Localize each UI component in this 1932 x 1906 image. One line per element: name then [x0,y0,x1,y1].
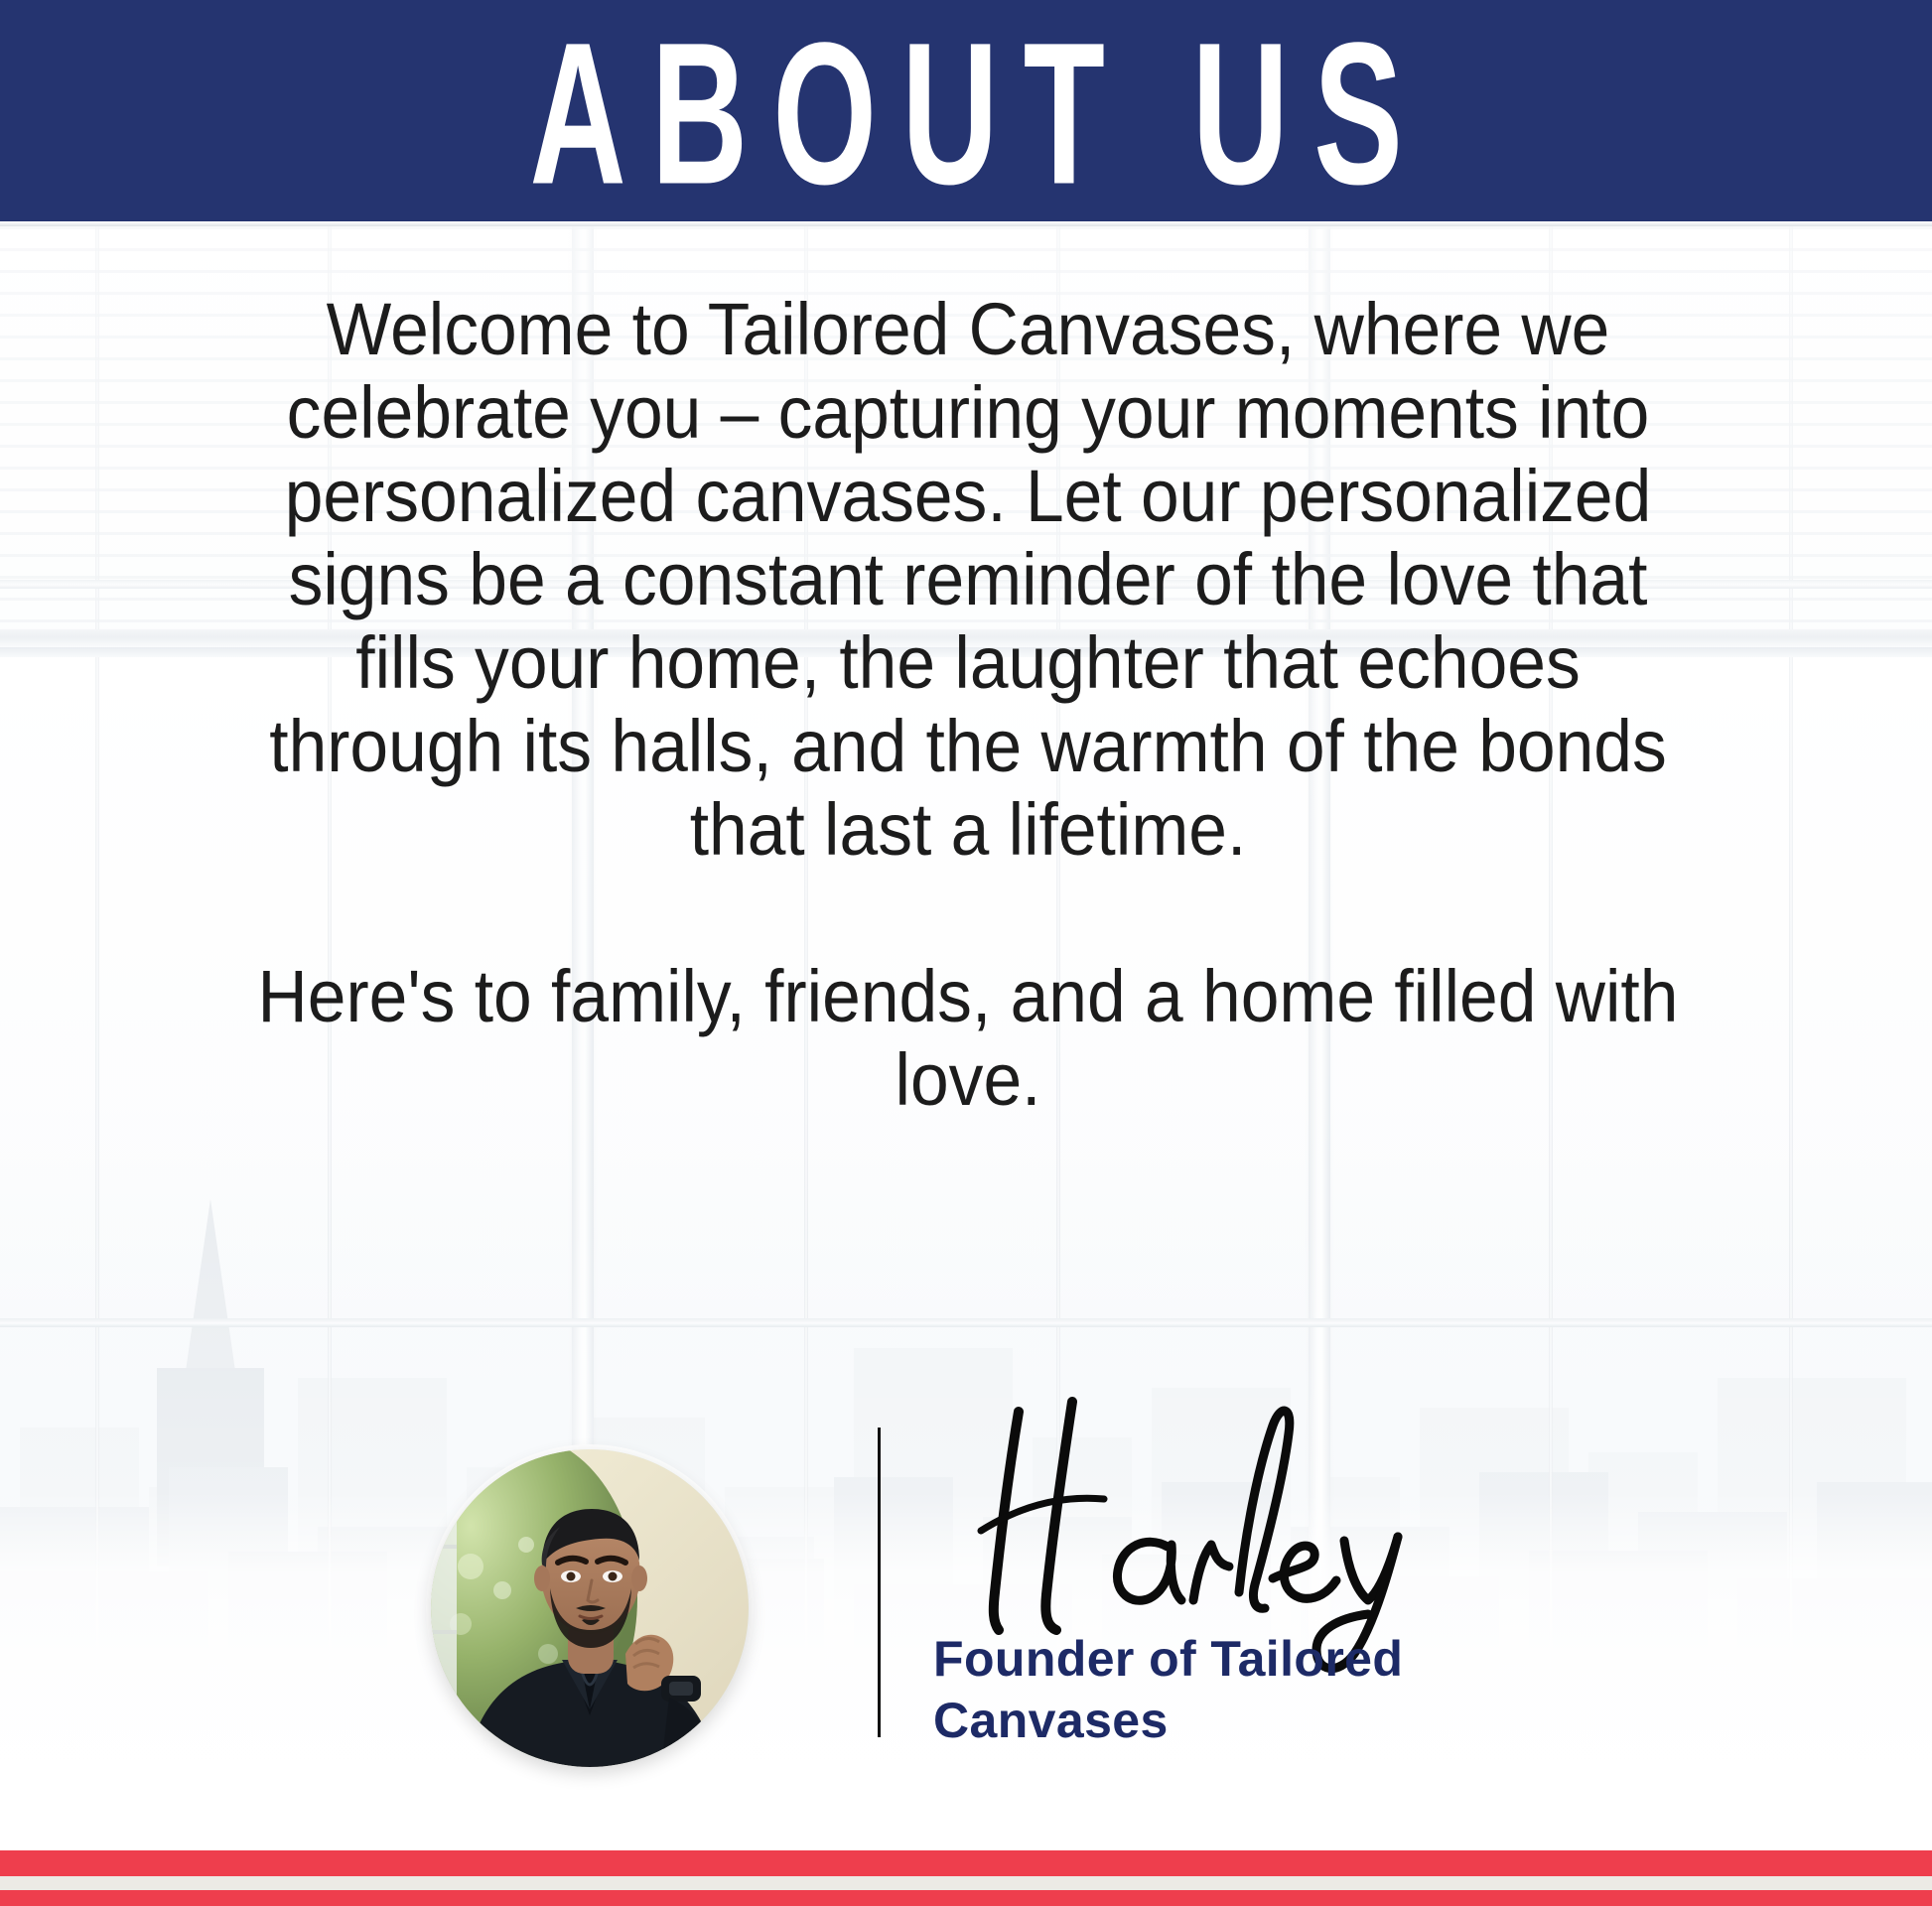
window-transom-lower [0,1318,1932,1327]
about-paragraph-1-text: Welcome to Tailored Canvases, where we c… [235,288,1701,872]
footer-stripe-gap [0,1876,1932,1890]
about-us-poster: ABOUT US Welcome to Tailored Canvases, w… [0,0,1932,1906]
founder-role-line-1: Founder of Tailored [933,1628,1549,1690]
founder-role-line-2: Canvases [933,1690,1549,1751]
about-paragraph-2: Here's to family, friends, and a home fi… [189,955,1747,1122]
footer-stripe-top [0,1850,1932,1876]
signature-divider [878,1428,881,1737]
paragraph-spacer [189,872,1747,955]
about-paragraph-1: Welcome to Tailored Canvases, where we c… [189,288,1747,872]
signature-block: Founder of Tailored Canvases [0,1390,1932,1807]
header-bottom-rule [0,221,1932,226]
avatar [431,1449,749,1767]
footer-stripe-bottom [0,1890,1932,1906]
about-body-copy: Welcome to Tailored Canvases, where we c… [189,288,1747,1122]
header-banner: ABOUT US [0,0,1932,226]
founder-role: Founder of Tailored Canvases [933,1628,1549,1751]
page-title: ABOUT US [504,13,1428,213]
about-paragraph-2-text: Here's to family, friends, and a home fi… [235,955,1701,1122]
